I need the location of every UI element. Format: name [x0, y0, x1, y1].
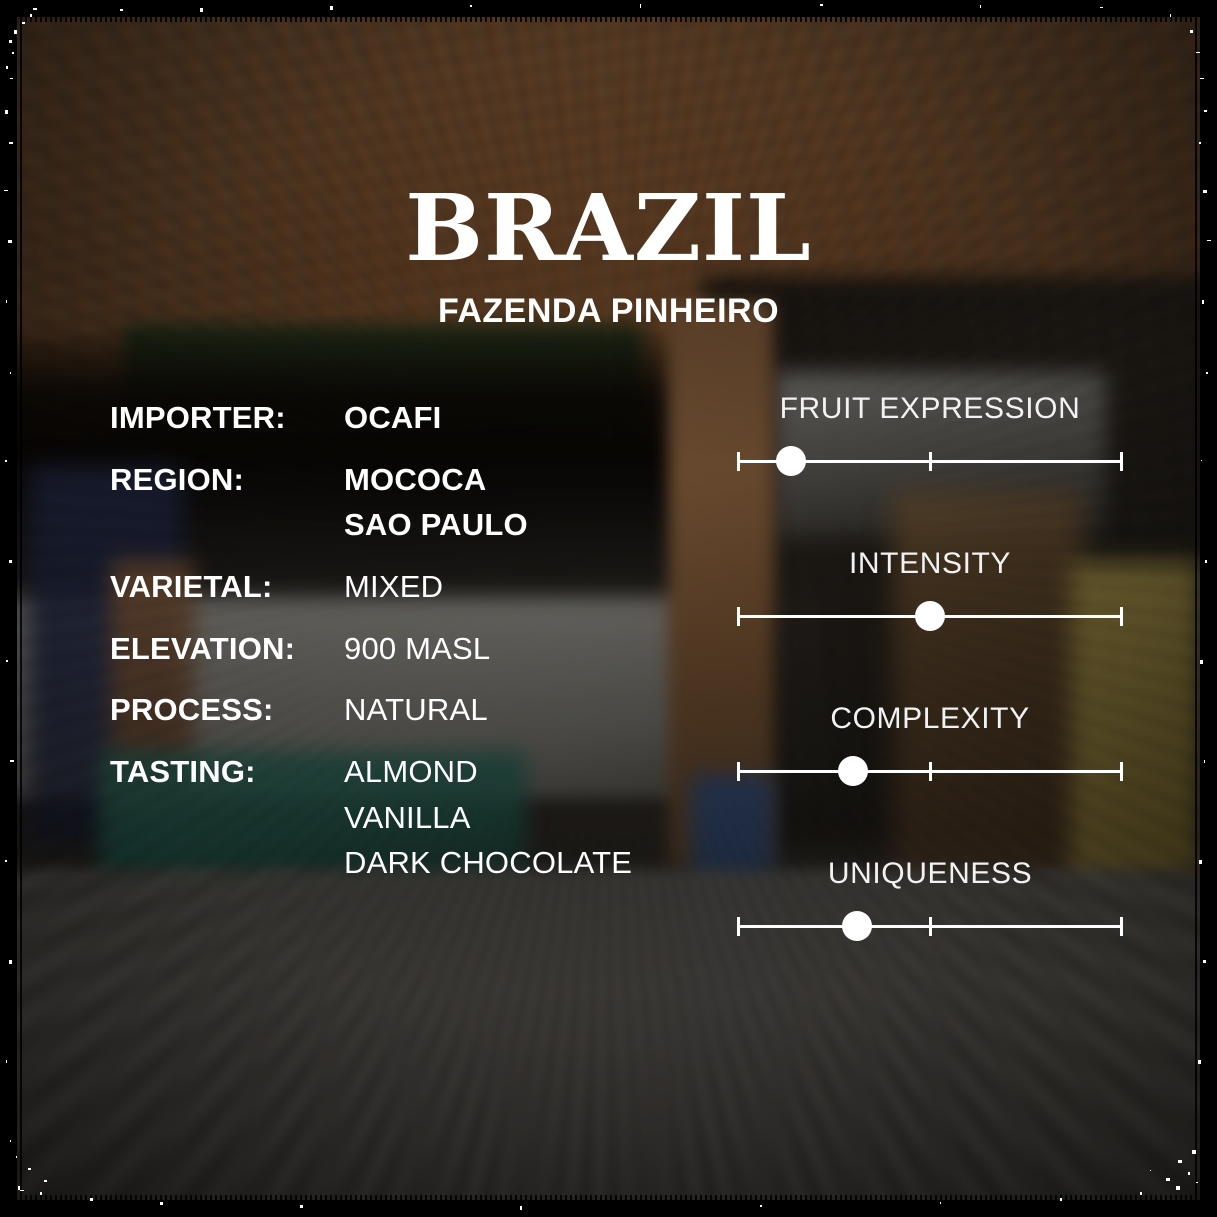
spec-values: NATURAL [344, 690, 730, 730]
frame-speckle [640, 4, 641, 8]
spec-value: NATURAL [344, 690, 730, 730]
frame-speckle [22, 22, 25, 24]
spec-value: ALMOND [344, 752, 730, 792]
flavor-scale: INTENSITY [721, 547, 1141, 702]
flavor-scale-knob[interactable] [915, 601, 945, 631]
frame-speckle [44, 1180, 47, 1182]
frame-speckle [1198, 1060, 1201, 1064]
frame-speckle [6, 1060, 7, 1063]
flavor-scale-knob[interactable] [842, 911, 872, 941]
frame-speckle [1060, 1198, 1062, 1201]
frame-speckle [9, 40, 12, 43]
frame-speckle [10, 372, 11, 374]
frame-speckle [1199, 142, 1201, 144]
spec-row: VARIETAL:MIXED [110, 567, 730, 607]
frame-speckle [1201, 460, 1202, 461]
frame-speckle [8, 240, 12, 243]
frame-speckle [1206, 372, 1208, 374]
flavor-scale: UNIQUENESS [721, 857, 1141, 1012]
spec-label: TASTING: [110, 752, 344, 792]
spec-value: MIXED [344, 567, 730, 607]
scale-tick-end [1120, 452, 1123, 471]
flavor-scale-label: UNIQUENESS [721, 857, 1139, 891]
farm-name: FAZENDA PINHEIRO [0, 292, 1217, 331]
page-title: BRAZIL [0, 182, 1217, 274]
flavor-scale-knob[interactable] [776, 446, 806, 476]
spec-value: 900 MASL [344, 629, 730, 669]
frame-speckle [1188, 1172, 1190, 1175]
frame-speckle [30, 14, 32, 17]
frame-speckle [1203, 190, 1207, 193]
scale-tick-end [1120, 762, 1123, 781]
spec-value: VANILLA [344, 798, 730, 838]
spec-label: PROCESS: [110, 690, 344, 730]
frame-speckle [1192, 1150, 1196, 1154]
flavor-scale-track-wrap[interactable] [737, 601, 1123, 631]
flavor-scale-track-wrap[interactable] [737, 911, 1123, 941]
spec-list: IMPORTER:OCAFIREGION:MOCOCASAO PAULOVARI… [110, 398, 730, 905]
frame-speckle [5, 860, 7, 862]
frame-speckle [1204, 760, 1205, 763]
frame-speckle [1190, 30, 1193, 33]
flavor-scale-list: FRUIT EXPRESSIONINTENSITYCOMPLEXITYUNIQU… [721, 392, 1141, 1012]
spec-values: MIXED [344, 567, 730, 607]
frame-speckle [10, 760, 14, 762]
frame-speckle [16, 1156, 17, 1158]
frame-speckle [1166, 1178, 1170, 1181]
flavor-scale-label: FRUIT EXPRESSION [721, 392, 1139, 426]
scale-tick-start [737, 452, 740, 471]
frame-speckle [40, 1192, 42, 1195]
frame-speckle [10, 78, 13, 79]
frame-speckle [1204, 110, 1207, 112]
spec-row: REGION:MOCOCASAO PAULO [110, 460, 730, 545]
frame-speckle [9, 142, 13, 144]
frame-speckle [1202, 300, 1204, 304]
text-overlay: BRAZIL FAZENDA PINHEIRO IMPORTER:OCAFIRE… [0, 0, 1217, 1217]
frame-speckle [6, 66, 8, 69]
frame-speckle [1140, 1192, 1142, 1195]
scale-tick-middle [929, 452, 932, 471]
frame-speckle [12, 52, 14, 54]
spec-label: REGION: [110, 460, 344, 500]
frame-edge-bottom [0, 1200, 1217, 1217]
frame-speckle [1196, 1182, 1198, 1183]
frame-speckle [20, 1190, 24, 1191]
frame-speckle [1205, 560, 1207, 563]
frame-speckle [160, 1202, 163, 1205]
frame-speckle [1200, 660, 1203, 664]
frame-speckle [1207, 240, 1211, 241]
spec-row: TASTING:ALMONDVANILLADARK CHOCOLATE [110, 752, 730, 883]
scale-tick-middle [929, 762, 932, 781]
spec-values: MOCOCASAO PAULO [344, 460, 730, 545]
spec-value: DARK CHOCOLATE [344, 843, 730, 883]
frame-speckle [980, 5, 981, 8]
frame-edge-top [0, 0, 1217, 17]
frame-speckle [470, 5, 472, 7]
frame-speckle [1100, 7, 1103, 8]
spec-value: SAO PAULO [344, 505, 730, 545]
spec-label: IMPORTER: [110, 398, 344, 438]
flavor-scale: COMPLEXITY [721, 702, 1141, 857]
frame-speckle [1150, 1170, 1151, 1171]
scale-tick-start [737, 762, 740, 781]
frame-speckle [120, 9, 123, 11]
frame-speckle [520, 1206, 522, 1210]
frame-speckle [1178, 1160, 1182, 1163]
frame-speckle [1170, 14, 1171, 17]
flavor-scale-track-wrap[interactable] [737, 756, 1123, 786]
flavor-scale: FRUIT EXPRESSION [721, 392, 1141, 547]
scale-tick-middle [929, 917, 932, 936]
frame-edge-left [0, 0, 17, 1217]
spec-values: OCAFI [344, 398, 730, 438]
frame-speckle [940, 1202, 941, 1204]
spec-values: 900 MASL [344, 629, 730, 669]
frame-speckle [4, 190, 8, 191]
frame-speckle [1203, 960, 1206, 963]
frame-speckle [9, 960, 12, 964]
frame-speckle [90, 1198, 93, 1201]
frame-speckle [28, 1168, 31, 1170]
frame-speckle [300, 1205, 303, 1208]
spec-row: ELEVATION:900 MASL [110, 629, 730, 669]
spec-label: VARIETAL: [110, 567, 344, 607]
frame-speckle [5, 110, 8, 114]
frame-speckle [760, 1205, 762, 1207]
frame-speckle [1199, 860, 1202, 864]
scale-tick-start [737, 917, 740, 936]
frame-speckle [9, 560, 12, 563]
frame-speckle [6, 300, 7, 303]
scale-tick-start [737, 607, 740, 626]
frame-speckle [820, 4, 823, 6]
spec-label: ELEVATION: [110, 629, 344, 669]
frame-speckle [1200, 78, 1204, 79]
frame-speckle [330, 6, 333, 10]
spec-value: OCAFI [344, 398, 730, 438]
flavor-scale-knob[interactable] [838, 756, 868, 786]
spec-row: IMPORTER:OCAFI [110, 398, 730, 438]
frame-speckle [10, 1140, 11, 1142]
frame-speckle [1176, 1186, 1180, 1190]
frame-edge-right [1200, 0, 1217, 1217]
flavor-scale-track-wrap[interactable] [737, 446, 1123, 476]
frame-speckle [33, 8, 37, 10]
spec-value: MOCOCA [344, 460, 730, 500]
frame-speckle [6, 660, 8, 662]
flavor-scale-label: COMPLEXITY [721, 702, 1139, 736]
frame-speckle [1196, 52, 1200, 53]
spec-row: PROCESS:NATURAL [110, 690, 730, 730]
scale-tick-end [1120, 917, 1123, 936]
frame-speckle [5, 460, 7, 462]
spec-values: ALMONDVANILLADARK CHOCOLATE [344, 752, 730, 883]
frame-speckle [200, 8, 203, 12]
scale-tick-end [1120, 607, 1123, 626]
coffee-origin-card: BRAZIL FAZENDA PINHEIRO IMPORTER:OCAFIRE… [0, 0, 1217, 1217]
flavor-scale-label: INTENSITY [721, 547, 1139, 581]
frame-speckle [14, 30, 17, 34]
